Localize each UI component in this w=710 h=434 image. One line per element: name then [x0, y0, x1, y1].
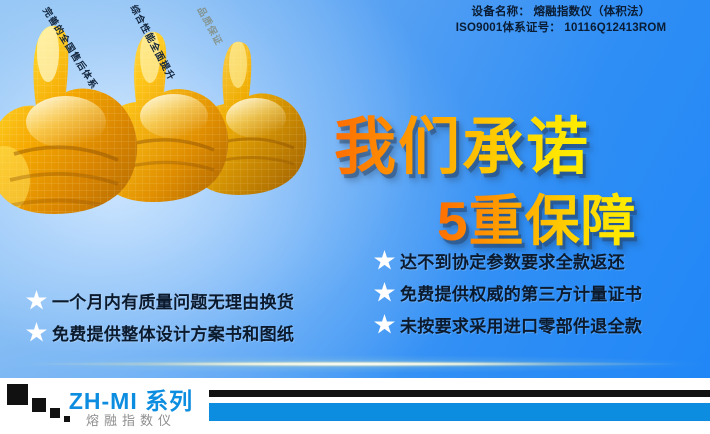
star-icon	[374, 314, 395, 335]
footer-blue-bar	[209, 403, 710, 421]
decorative-square-2	[32, 398, 46, 412]
headline-secondary: 5重保障	[437, 176, 637, 256]
footer-bar: ZH-MI 系列 熔融指数仪	[0, 378, 710, 434]
list-item: 达不到协定参数要求全款返还	[374, 248, 642, 273]
equipment-header: 设备名称： 熔融指数仪（体积法） ISO9001体系证号： 10116Q1241…	[418, 5, 704, 36]
list-item: 一个月内有质量问题无理由换货	[26, 288, 294, 313]
guarantee-list-right: 达不到协定参数要求全款返还 免费提供权威的第三方计量证书 未按要求采用进口零部件…	[374, 248, 642, 344]
finger-caption-2: 综合性能全面提升	[128, 2, 180, 83]
guarantee-text: 未按要求采用进口零部件退全款	[400, 312, 642, 337]
promo-poster: 完善的全国售后体系 综合性能全面提升 品质保证 设备名称： 熔融指数仪（体积法）…	[0, 0, 710, 434]
equipment-name-line: 设备名称： 熔融指数仪（体积法）	[418, 5, 704, 21]
star-icon	[374, 282, 395, 303]
brand-product-name: 熔融指数仪	[56, 410, 206, 429]
lens-flare-streak	[0, 352, 710, 376]
finger-caption-3: 品质保证	[195, 4, 227, 48]
guarantee-text: 免费提供权威的第三方计量证书	[400, 280, 642, 305]
finger-caption-1: 完善的全国售后体系	[40, 4, 102, 92]
guarantee-list-left: 一个月内有质量问题无理由换货 免费提供整体设计方案书和图纸	[26, 288, 294, 352]
star-icon	[374, 250, 395, 271]
list-item: 免费提供整体设计方案书和图纸	[26, 320, 294, 345]
star-icon	[26, 322, 47, 343]
headline-primary: 我们承诺	[334, 96, 590, 186]
list-item: 未按要求采用进口零部件退全款	[374, 312, 642, 337]
decorative-square-1	[7, 384, 28, 405]
guarantee-text: 一个月内有质量问题无理由换货	[52, 288, 294, 313]
guarantee-text: 达不到协定参数要求全款返还	[400, 248, 625, 273]
footer-black-stripe	[209, 390, 710, 397]
guarantee-text: 免费提供整体设计方案书和图纸	[52, 320, 294, 345]
iso-certificate-line: ISO9001体系证号： 10116Q12413ROM	[418, 21, 704, 37]
star-icon	[26, 290, 47, 311]
list-item: 免费提供权威的第三方计量证书	[374, 280, 642, 305]
